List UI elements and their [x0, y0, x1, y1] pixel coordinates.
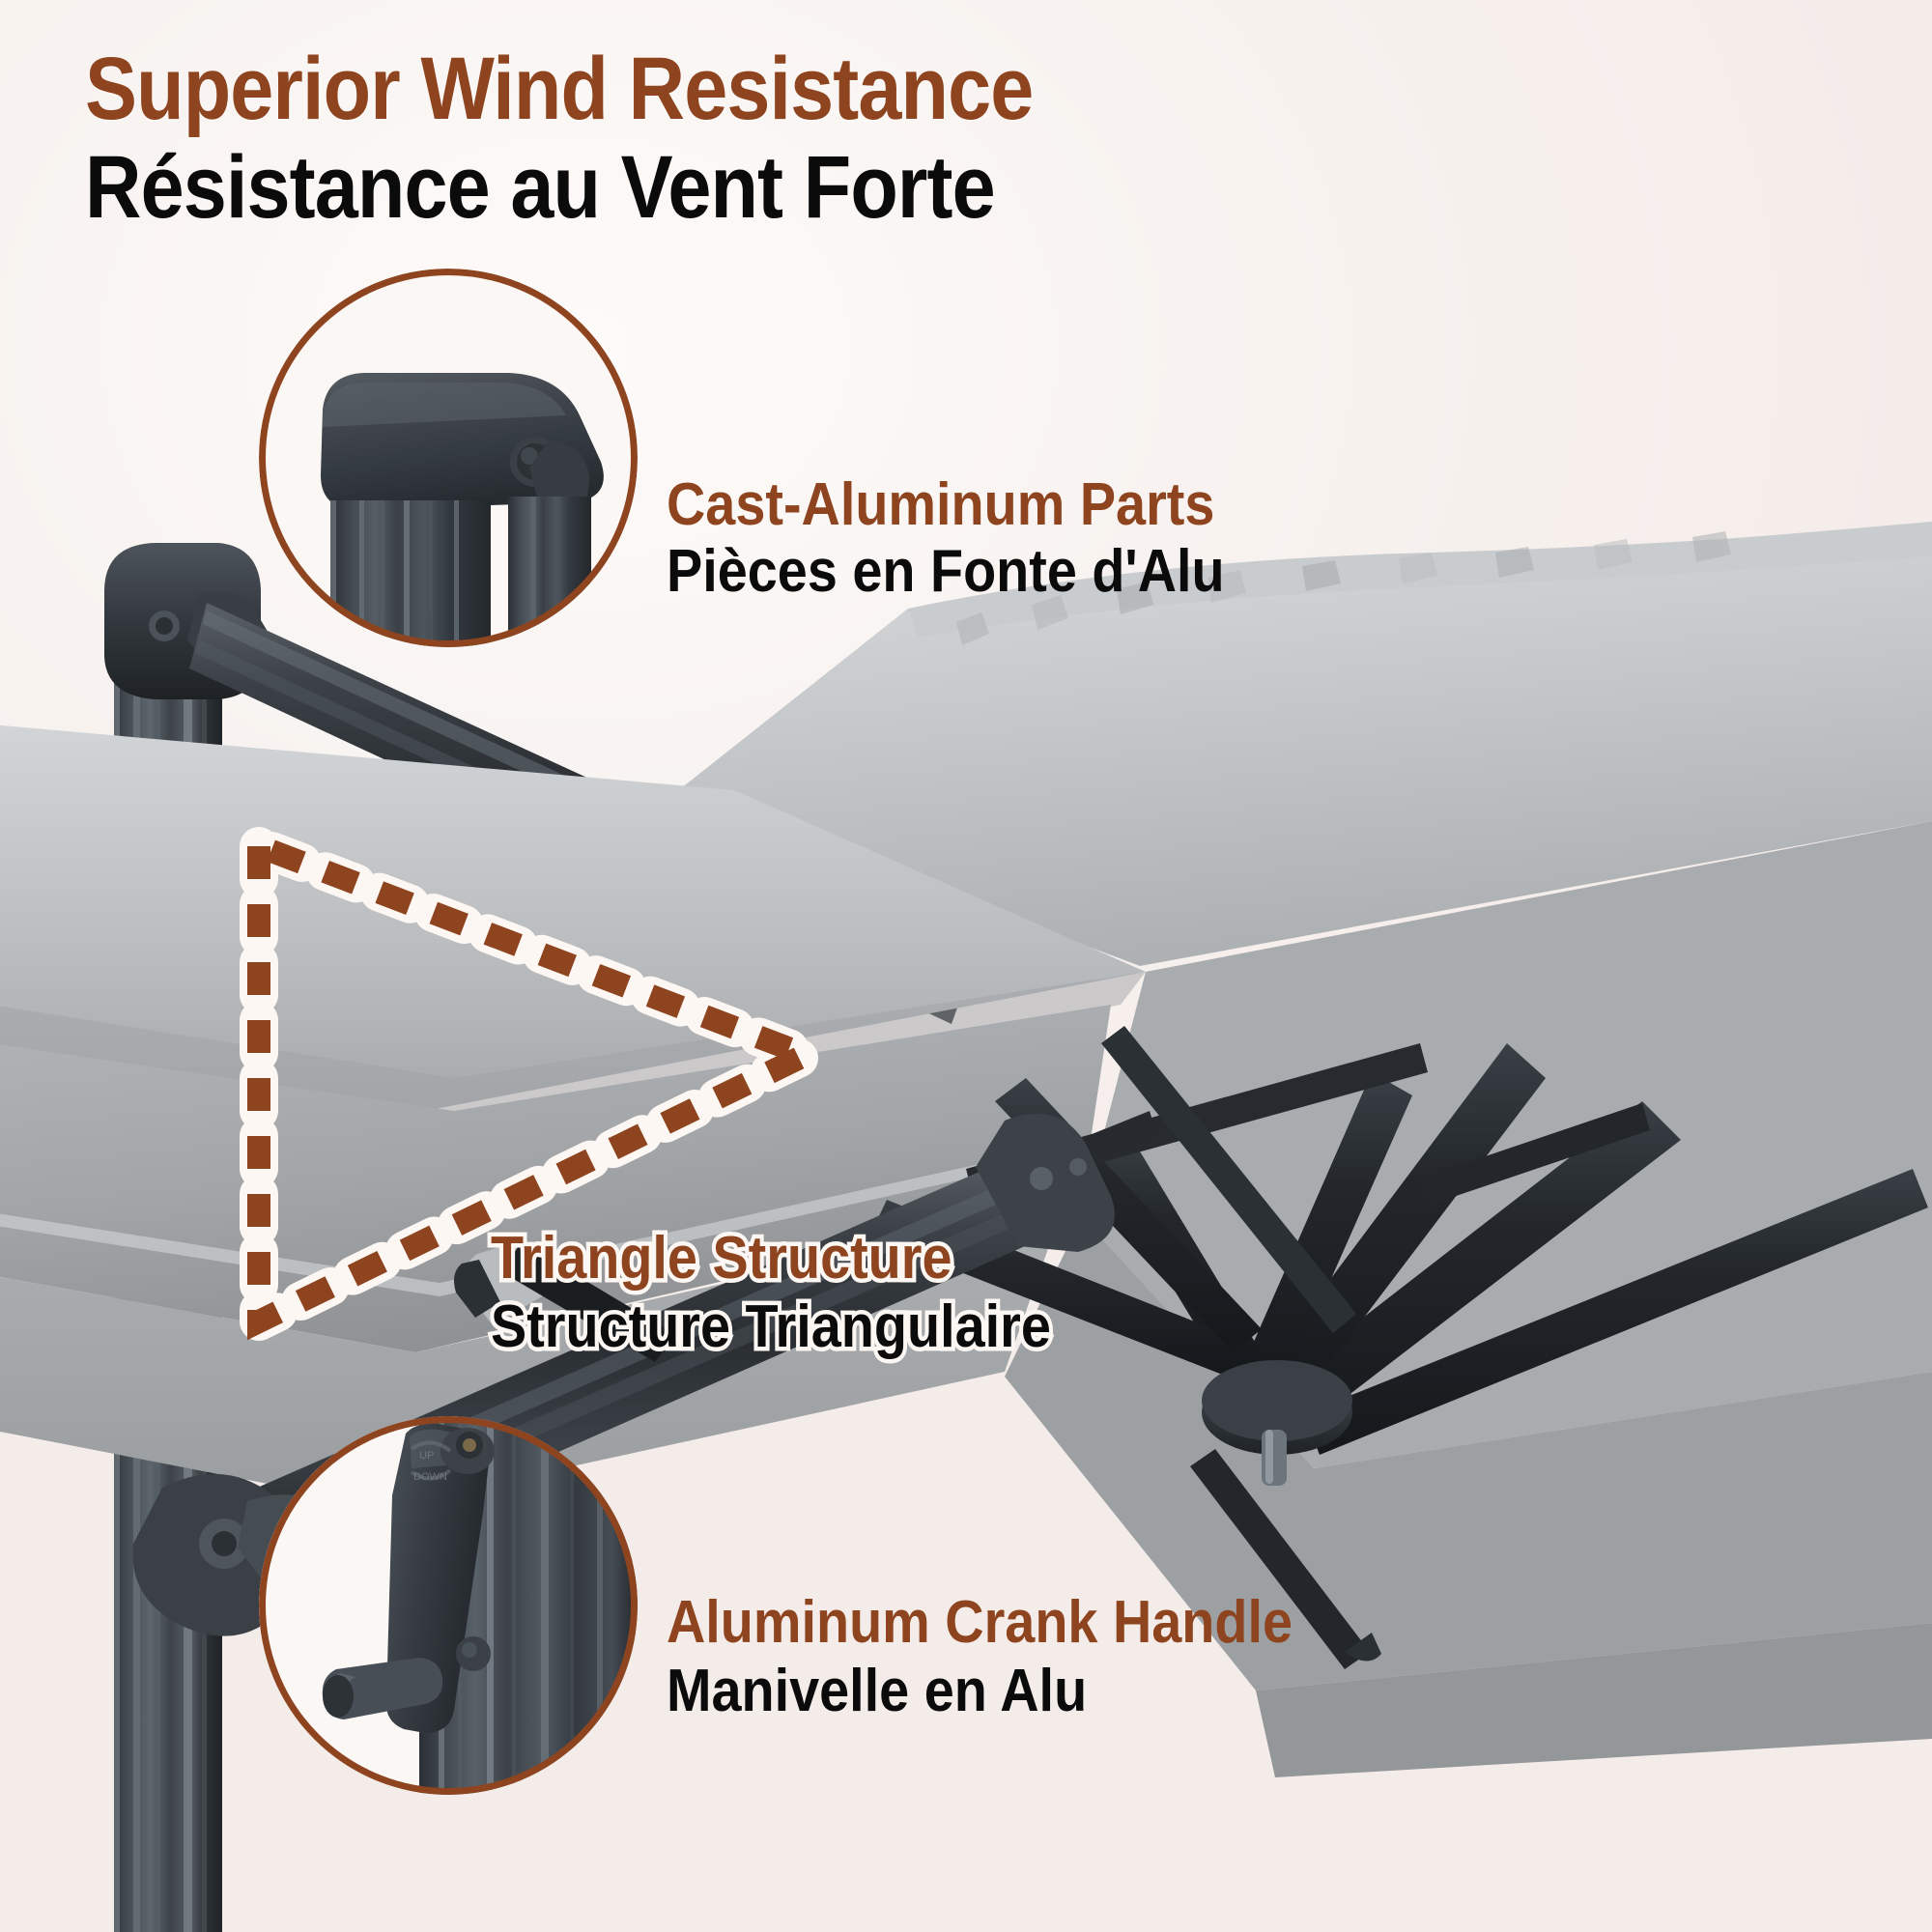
cast-aluminum-detail-photo	[259, 269, 638, 647]
callout-label-cast-aluminum-fr: Pièces en Fonte d'Alu	[667, 538, 1225, 605]
callout-label-cast-aluminum: Cast-Aluminum Parts Pièces en Fonte d'Al…	[667, 471, 1287, 606]
page-title-fr: Résistance au Vent Forte	[85, 143, 995, 232]
callout-label-triangle-structure-en: Triangle Structure	[491, 1225, 1051, 1293]
callout-label-crank-handle-en: Aluminum Crank Handle	[667, 1589, 1293, 1658]
crank-up-label: UP	[419, 1450, 434, 1462]
callout-circle-crank-handle: UP DOWN	[259, 1416, 638, 1795]
callout-circle-cast-aluminum	[259, 269, 638, 647]
callout-label-triangle-structure-fr: Structure Triangulaire	[491, 1293, 1051, 1362]
callout-label-crank-handle: Aluminum Crank Handle Manivelle en Alu	[667, 1589, 1362, 1725]
callout-label-triangle-structure: Triangle Structure Structure Triangulair…	[491, 1225, 1113, 1361]
crank-down-label: DOWN	[413, 1471, 447, 1483]
callout-label-crank-handle-fr: Manivelle en Alu	[667, 1658, 1293, 1726]
callout-label-cast-aluminum-en: Cast-Aluminum Parts	[667, 471, 1225, 538]
infographic-canvas: UP DOWN Superior Wind Resistance Résista…	[0, 0, 1932, 1932]
page-title-en: Superior Wind Resistance	[85, 44, 1033, 133]
crank-handle-detail-photo: UP DOWN	[259, 1416, 638, 1795]
